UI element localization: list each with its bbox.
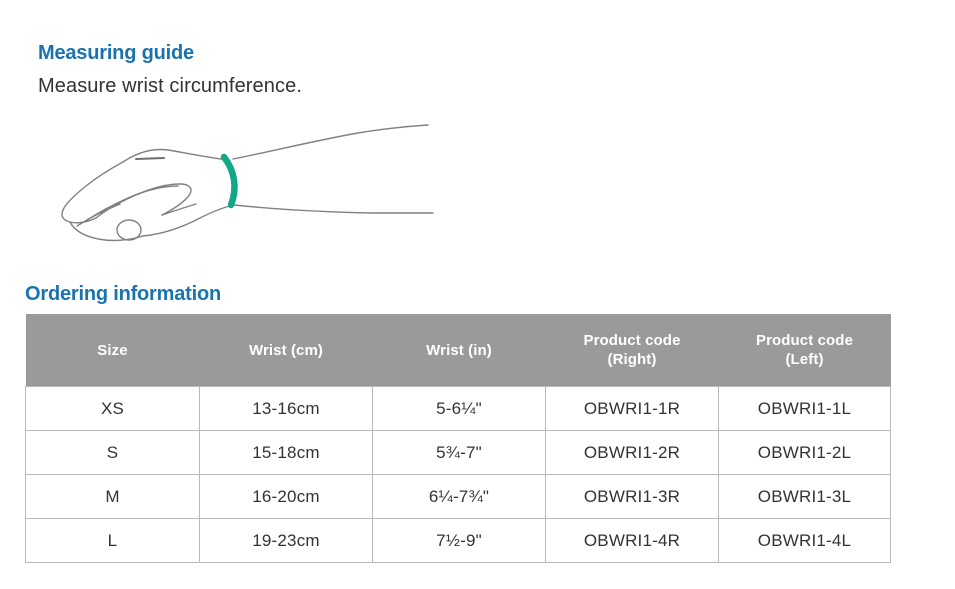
column-header-product-code-left-line2: (Left) [785,351,823,368]
hand-top-line [123,150,228,163]
column-header-product-code-right-line2: (Right) [607,351,656,368]
cell-code-left: OBWRI1-4L [719,519,891,563]
cell-wrist-in: 6¼-7¾" [373,475,546,519]
hand-outer-edge [62,162,123,223]
hand-shading-tick [136,158,164,159]
cell-wrist-cm: 19-23cm [200,519,373,563]
fingertip-bottom-line [70,222,143,240]
cell-code-right: OBWRI1-2R [546,431,719,475]
cell-wrist-in: 5-6¼" [373,387,546,431]
finger-line-1 [96,184,191,218]
ordering-information-section: Ordering information [25,281,625,307]
cell-code-left: OBWRI1-2L [719,431,891,475]
table-header: Size Wrist (cm) Wrist (in) Product code … [26,314,891,387]
cell-size: S [26,431,200,475]
cell-code-right: OBWRI1-3R [546,475,719,519]
measuring-guide-instruction: Measure wrist circumference. [38,72,538,100]
finger-line-3 [77,204,120,226]
table-row: L 19-23cm 7½-9" OBWRI1-4R OBWRI1-4L [26,519,891,563]
column-header-product-code-right: Product code (Right) [546,314,719,387]
hand-wrist-measurement-illustration [28,112,448,252]
table-row: M 16-20cm 6¼-7¾" OBWRI1-3R OBWRI1-3L [26,475,891,519]
table-header-row: Size Wrist (cm) Wrist (in) Product code … [26,314,891,387]
ordering-information-table: Size Wrist (cm) Wrist (in) Product code … [25,314,891,563]
palm-bottom-line [143,205,234,236]
cell-wrist-in: 7½-9" [373,519,546,563]
column-header-wrist-in: Wrist (in) [373,314,546,387]
column-header-wrist-cm: Wrist (cm) [200,314,373,387]
cell-code-left: OBWRI1-1L [719,387,891,431]
column-header-product-code-left: Product code (Left) [719,314,891,387]
cell-size: L [26,519,200,563]
forearm-bottom-line [234,205,433,213]
cell-wrist-cm: 13-16cm [200,387,373,431]
cell-size: XS [26,387,200,431]
column-header-product-code-left-line1: Product code [756,332,853,349]
column-header-size-line1: Size [97,342,127,359]
table-row: XS 13-16cm 5-6¼" OBWRI1-1R OBWRI1-1L [26,387,891,431]
cell-size: M [26,475,200,519]
thumb-tip-circle [117,220,141,240]
ordering-information-heading: Ordering information [25,281,625,307]
table-row: S 15-18cm 5¾-7" OBWRI1-2R OBWRI1-2L [26,431,891,475]
cell-wrist-cm: 16-20cm [200,475,373,519]
column-header-product-code-right-line1: Product code [583,332,680,349]
forearm-top-line [233,125,428,159]
cell-code-right: OBWRI1-1R [546,387,719,431]
wrist-measuring-band [224,157,235,205]
column-header-wrist-cm-line1: Wrist (cm) [249,342,323,359]
column-header-size: Size [26,314,200,387]
cell-code-right: OBWRI1-4R [546,519,719,563]
cell-wrist-in: 5¾-7" [373,431,546,475]
measuring-guide-section: Measuring guide Measure wrist circumfere… [38,40,538,100]
cell-code-left: OBWRI1-3L [719,475,891,519]
cell-wrist-cm: 15-18cm [200,431,373,475]
table-body: XS 13-16cm 5-6¼" OBWRI1-1R OBWRI1-1L S 1… [26,387,891,563]
size-table-container: Size Wrist (cm) Wrist (in) Product code … [25,314,890,563]
column-header-wrist-in-line1: Wrist (in) [426,342,492,359]
measuring-guide-heading: Measuring guide [38,40,538,66]
